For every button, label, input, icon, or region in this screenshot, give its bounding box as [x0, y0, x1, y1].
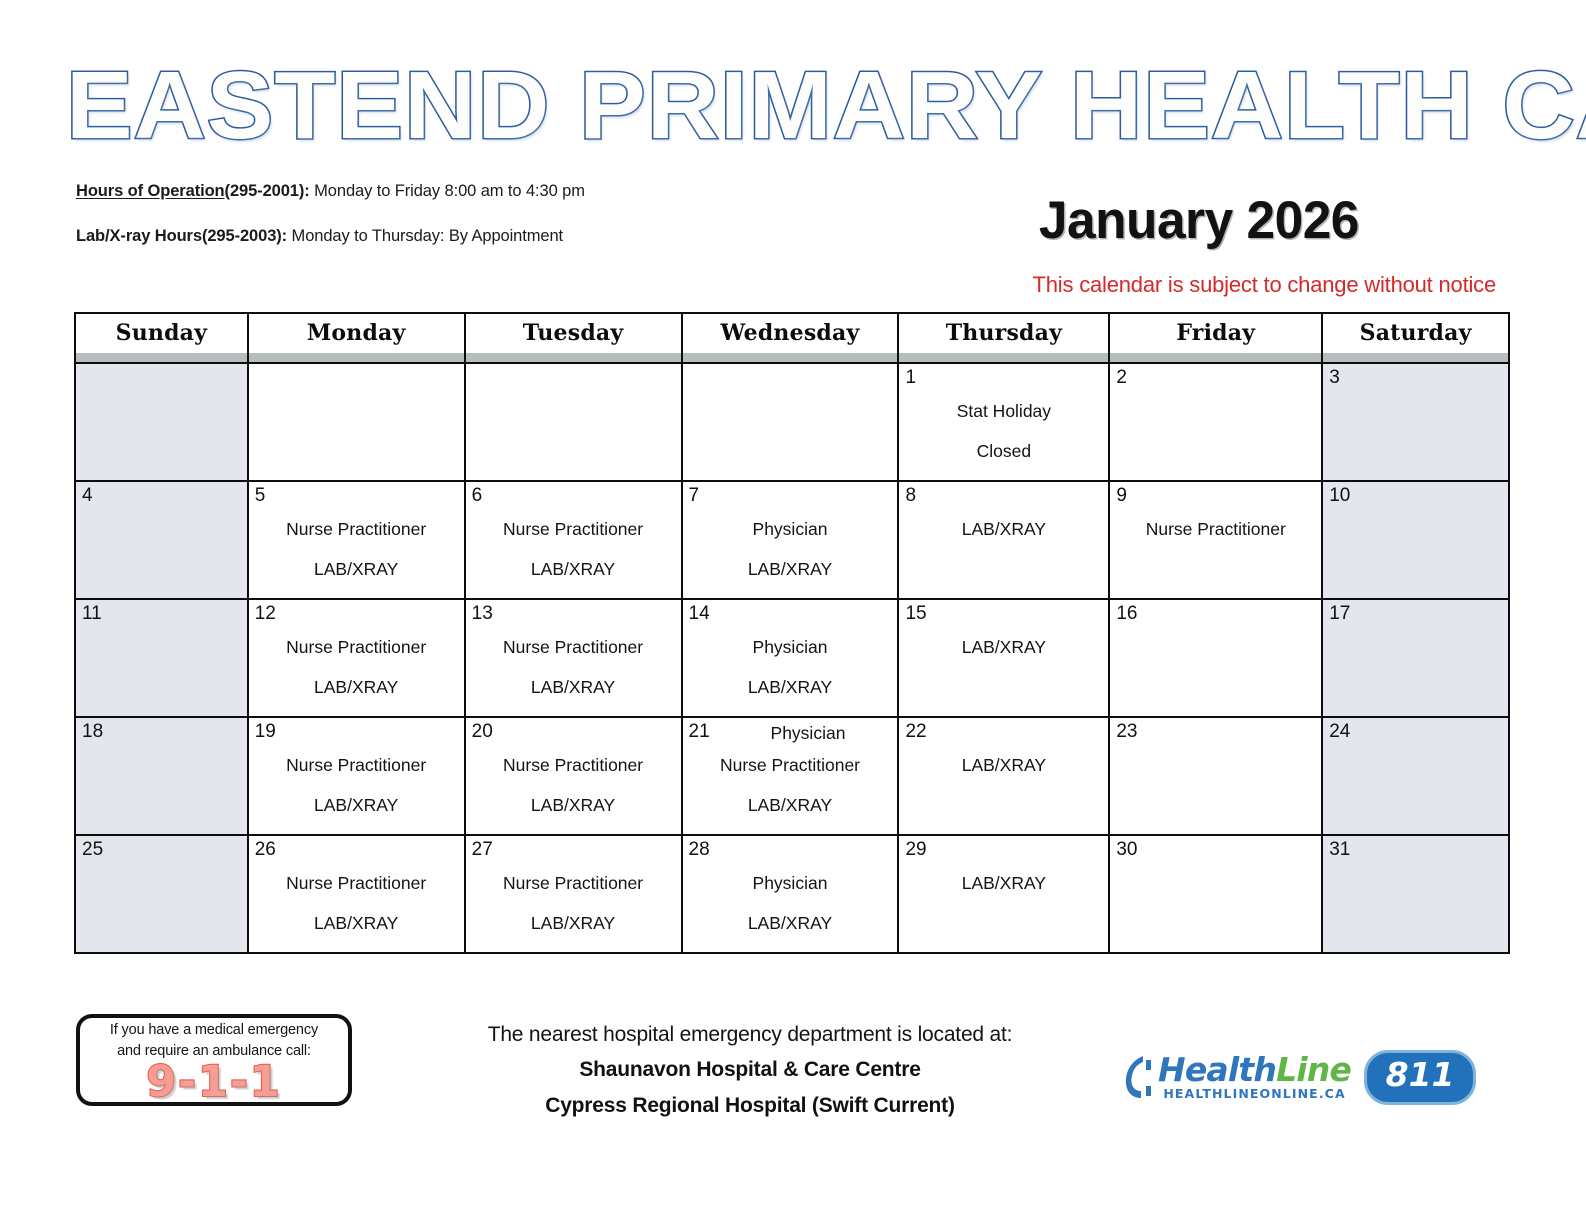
calendar-body: 1Stat HolidayClosed2345Nurse Practitione…: [75, 363, 1509, 953]
calendar-day-cell[interactable]: 18: [75, 717, 248, 835]
day-event: LAB/XRAY: [466, 903, 681, 943]
day-event: Nurse Practitioner: [249, 745, 464, 785]
day-number: 16: [1116, 603, 1137, 624]
day-event: Physician: [683, 509, 898, 549]
calendar-day-cell[interactable]: 13Nurse PractitionerLAB/XRAY: [465, 599, 682, 717]
calendar-day-cell[interactable]: [248, 363, 465, 481]
day-events: [683, 364, 898, 391]
calendar-day-cell[interactable]: 16: [1109, 599, 1322, 717]
day-header-friday: Friday: [1109, 313, 1322, 363]
lab-xray-hours-label: Lab/X-ray Hours: [76, 227, 202, 245]
day-events: LAB/XRAY: [899, 482, 1108, 549]
day-event: LAB/XRAY: [899, 745, 1108, 785]
day-events: Nurse PractitionerLAB/XRAY: [466, 718, 681, 825]
day-number: 6: [472, 485, 483, 506]
day-events: Nurse Practitioner: [1110, 482, 1321, 549]
header-strip: [1323, 353, 1508, 362]
calendar-day-cell[interactable]: 6Nurse PractitionerLAB/XRAY: [465, 481, 682, 599]
calendar-header-row: Sunday Monday Tuesday Wednesday Thursday…: [75, 313, 1509, 363]
day-number: 3: [1329, 367, 1340, 388]
day-events: Nurse PractitionerLAB/XRAY: [466, 600, 681, 707]
calendar-day-cell[interactable]: 11: [75, 599, 248, 717]
calendar-day-cell[interactable]: 4: [75, 481, 248, 599]
calendar-week-row: 1112Nurse PractitionerLAB/XRAY13Nurse Pr…: [75, 599, 1509, 717]
day-event: LAB/XRAY: [466, 667, 681, 707]
calendar-day-cell[interactable]: 10: [1322, 481, 1509, 599]
day-number: 28: [689, 839, 710, 860]
emergency-text-line-1: If you have a medical emergency: [80, 1020, 348, 1041]
header-strip: [76, 353, 247, 362]
healthline-website: HEALTHLINEONLINE.CA: [1158, 1086, 1351, 1102]
day-event: LAB/XRAY: [683, 903, 898, 943]
header-strip: [249, 353, 464, 362]
day-event: LAB/XRAY: [249, 667, 464, 707]
day-event: LAB/XRAY: [899, 509, 1108, 549]
day-event: Nurse Practitioner: [466, 509, 681, 549]
day-number: 9: [1116, 485, 1127, 506]
day-events: [1323, 364, 1508, 391]
day-header-thursday: Thursday: [898, 313, 1109, 363]
day-number: 20: [472, 721, 493, 742]
day-header-wednesday: Wednesday: [682, 313, 899, 363]
calendar-week-row: 1819Nurse PractitionerLAB/XRAY20Nurse Pr…: [75, 717, 1509, 835]
day-event: Physician: [683, 718, 898, 745]
day-events: LAB/XRAY: [899, 718, 1108, 785]
calendar-day-cell[interactable]: 26Nurse PractitionerLAB/XRAY: [248, 835, 465, 953]
hospital-lead-text: The nearest hospital emergency departmen…: [420, 1018, 1080, 1052]
day-events: [466, 364, 681, 391]
phone-handset-icon: [1122, 1054, 1152, 1100]
day-event: Nurse Practitioner: [249, 627, 464, 667]
day-events: [1323, 482, 1508, 509]
day-events: Nurse PractitionerLAB/XRAY: [466, 482, 681, 589]
day-event: Nurse Practitioner: [466, 627, 681, 667]
calendar-change-notice: This calendar is subject to change witho…: [1033, 272, 1496, 298]
day-number: 8: [905, 485, 916, 506]
calendar-day-cell[interactable]: 24: [1322, 717, 1509, 835]
day-event: LAB/XRAY: [249, 785, 464, 825]
day-events: PhysicianLAB/XRAY: [683, 482, 898, 589]
calendar-day-cell[interactable]: 8LAB/XRAY: [898, 481, 1109, 599]
day-events: Nurse PractitionerLAB/XRAY: [249, 718, 464, 825]
day-events: Nurse PractitionerLAB/XRAY: [466, 836, 681, 943]
day-events: [1323, 836, 1508, 863]
hours-of-operation-label: Hours of Operation: [76, 182, 225, 200]
calendar-day-cell[interactable]: 19Nurse PractitionerLAB/XRAY: [248, 717, 465, 835]
day-number: 21: [689, 721, 710, 742]
day-event: LAB/XRAY: [899, 863, 1108, 903]
day-header-sunday: Sunday: [75, 313, 248, 363]
day-event: LAB/XRAY: [899, 627, 1108, 667]
calendar-day-cell[interactable]: 5Nurse PractitionerLAB/XRAY: [248, 481, 465, 599]
day-number: 15: [905, 603, 926, 624]
day-event: LAB/XRAY: [249, 549, 464, 589]
calendar-day-cell[interactable]: 17: [1322, 599, 1509, 717]
day-events: [1323, 718, 1508, 745]
hospital-name-1: Shaunavon Hospital & Care Centre: [420, 1052, 1080, 1088]
calendar-day-cell[interactable]: 14PhysicianLAB/XRAY: [682, 599, 899, 717]
calendar-day-cell[interactable]: 23: [1109, 717, 1322, 835]
day-events: [249, 364, 464, 391]
calendar-day-cell[interactable]: [75, 363, 248, 481]
header-strip: [683, 353, 898, 362]
hours-of-operation-value: Monday to Friday 8:00 am to 4:30 pm: [310, 182, 585, 200]
day-number: 17: [1329, 603, 1350, 624]
emergency-phone-number: 9-1-1: [80, 1061, 348, 1104]
calendar-day-cell[interactable]: [682, 363, 899, 481]
lab-xray-hours-phone: (295-2003):: [202, 227, 287, 245]
monthly-calendar-grid: Sunday Monday Tuesday Wednesday Thursday…: [74, 312, 1510, 954]
day-events: PhysicianLAB/XRAY: [683, 600, 898, 707]
day-event: Nurse Practitioner: [466, 745, 681, 785]
day-number: 27: [472, 839, 493, 860]
calendar-day-cell[interactable]: 29LAB/XRAY: [898, 835, 1109, 953]
day-event: Physician: [683, 627, 898, 667]
day-number: 18: [82, 721, 103, 742]
day-event: Nurse Practitioner: [683, 745, 898, 785]
calendar-day-cell[interactable]: 7PhysicianLAB/XRAY: [682, 481, 899, 599]
month-year-title: January 2026: [1039, 190, 1359, 251]
day-number: 1: [905, 367, 916, 388]
day-event: LAB/XRAY: [683, 785, 898, 825]
day-event: Physician: [683, 863, 898, 903]
day-event: LAB/XRAY: [683, 667, 898, 707]
day-event: LAB/XRAY: [466, 785, 681, 825]
day-header-monday: Monday: [248, 313, 465, 363]
day-events: Nurse PractitionerLAB/XRAY: [249, 836, 464, 943]
healthline-word-health: Health: [1158, 1050, 1276, 1089]
day-number: 2: [1116, 367, 1127, 388]
healthline-wordmark: HealthLine HEALTHLINEONLINE.CA: [1158, 1053, 1351, 1102]
day-event: Nurse Practitioner: [249, 509, 464, 549]
calendar-day-cell[interactable]: 30: [1109, 835, 1322, 953]
page-title: EASTEND PRIMARY HEALTH CARE SITE: [66, 52, 1580, 162]
calendar-day-cell[interactable]: [465, 363, 682, 481]
calendar-day-cell[interactable]: 21PhysicianNurse PractitionerLAB/XRAY: [682, 717, 899, 835]
calendar-week-row: 45Nurse PractitionerLAB/XRAY6Nurse Pract…: [75, 481, 1509, 599]
day-number: 31: [1329, 839, 1350, 860]
day-number: 19: [255, 721, 276, 742]
calendar-day-cell[interactable]: 20Nurse PractitionerLAB/XRAY: [465, 717, 682, 835]
day-events: [76, 364, 247, 391]
calendar-day-cell[interactable]: 12Nurse PractitionerLAB/XRAY: [248, 599, 465, 717]
day-events: LAB/XRAY: [899, 836, 1108, 903]
day-events: [1323, 600, 1508, 627]
header-strip: [899, 353, 1108, 362]
day-number: 4: [82, 485, 93, 506]
hours-of-operation-line: Hours of Operation(295-2001): Monday to …: [76, 182, 776, 201]
day-number: 11: [82, 603, 102, 624]
day-event: Nurse Practitioner: [1110, 509, 1321, 549]
day-events: Stat HolidayClosed: [899, 364, 1108, 471]
day-number: 22: [905, 721, 926, 742]
hours-of-operation-block: Hours of Operation(295-2001): Monday to …: [76, 182, 776, 272]
healthline-name: HealthLine: [1158, 1053, 1351, 1086]
calendar-day-cell[interactable]: 22LAB/XRAY: [898, 717, 1109, 835]
day-event: LAB/XRAY: [466, 549, 681, 589]
header-strip: [1110, 353, 1321, 362]
calendar-day-cell[interactable]: 31: [1322, 835, 1509, 953]
lab-xray-hours-line: Lab/X-ray Hours(295-2003): Monday to Thu…: [76, 227, 776, 246]
calendar-day-cell[interactable]: 28PhysicianLAB/XRAY: [682, 835, 899, 953]
day-header-saturday: Saturday: [1322, 313, 1509, 363]
day-header-tuesday: Tuesday: [465, 313, 682, 363]
day-event: Stat Holiday: [899, 391, 1108, 431]
day-events: Nurse PractitionerLAB/XRAY: [249, 600, 464, 707]
day-event: Nurse Practitioner: [466, 863, 681, 903]
day-number: 12: [255, 603, 276, 624]
day-events: [1110, 364, 1321, 391]
healthline-word-line: Line: [1276, 1050, 1351, 1089]
calendar-day-cell[interactable]: 27Nurse PractitionerLAB/XRAY: [465, 835, 682, 953]
day-number: 13: [472, 603, 493, 624]
day-events: [1110, 600, 1321, 627]
day-number: 14: [689, 603, 710, 624]
lab-xray-hours-value: Monday to Thursday: By Appointment: [287, 227, 563, 245]
day-number: 23: [1116, 721, 1137, 742]
day-number: 29: [905, 839, 926, 860]
day-number: 26: [255, 839, 276, 860]
calendar-day-cell[interactable]: 15LAB/XRAY: [898, 599, 1109, 717]
day-number: 10: [1329, 485, 1350, 506]
nearest-hospital-info: The nearest hospital emergency departmen…: [420, 1018, 1080, 1124]
healthline-logo: HealthLine HEALTHLINEONLINE.CA 811: [1122, 1046, 1492, 1108]
calendar-day-cell[interactable]: 25: [75, 835, 248, 953]
day-number: 25: [82, 839, 103, 860]
hospital-name-2: Cypress Regional Hospital (Swift Current…: [420, 1088, 1080, 1124]
day-events: LAB/XRAY: [899, 600, 1108, 667]
day-events: [1110, 718, 1321, 745]
calendar-day-cell[interactable]: 3: [1322, 363, 1509, 481]
calendar-day-cell[interactable]: 1Stat HolidayClosed: [898, 363, 1109, 481]
day-events: PhysicianNurse PractitionerLAB/XRAY: [683, 718, 898, 825]
calendar-day-cell[interactable]: 2: [1109, 363, 1322, 481]
calendar-week-row: 2526Nurse PractitionerLAB/XRAY27Nurse Pr…: [75, 835, 1509, 953]
day-event: LAB/XRAY: [683, 549, 898, 589]
day-number: 5: [255, 485, 266, 506]
day-number: 30: [1116, 839, 1137, 860]
day-events: Nurse PractitionerLAB/XRAY: [249, 482, 464, 589]
day-event: Closed: [899, 431, 1108, 471]
healthline-811-badge: 811: [1364, 1050, 1476, 1105]
hours-of-operation-phone: (295-2001):: [225, 182, 310, 200]
day-events: [1110, 836, 1321, 863]
day-event: LAB/XRAY: [249, 903, 464, 943]
calendar-day-cell[interactable]: 9Nurse Practitioner: [1109, 481, 1322, 599]
header-strip: [466, 353, 681, 362]
day-events: PhysicianLAB/XRAY: [683, 836, 898, 943]
day-events: [76, 482, 247, 509]
emergency-call-box: If you have a medical emergency and requ…: [76, 1014, 352, 1106]
calendar-week-row: 1Stat HolidayClosed23: [75, 363, 1509, 481]
day-number: 7: [689, 485, 700, 506]
day-event: Nurse Practitioner: [249, 863, 464, 903]
day-number: 24: [1329, 721, 1350, 742]
